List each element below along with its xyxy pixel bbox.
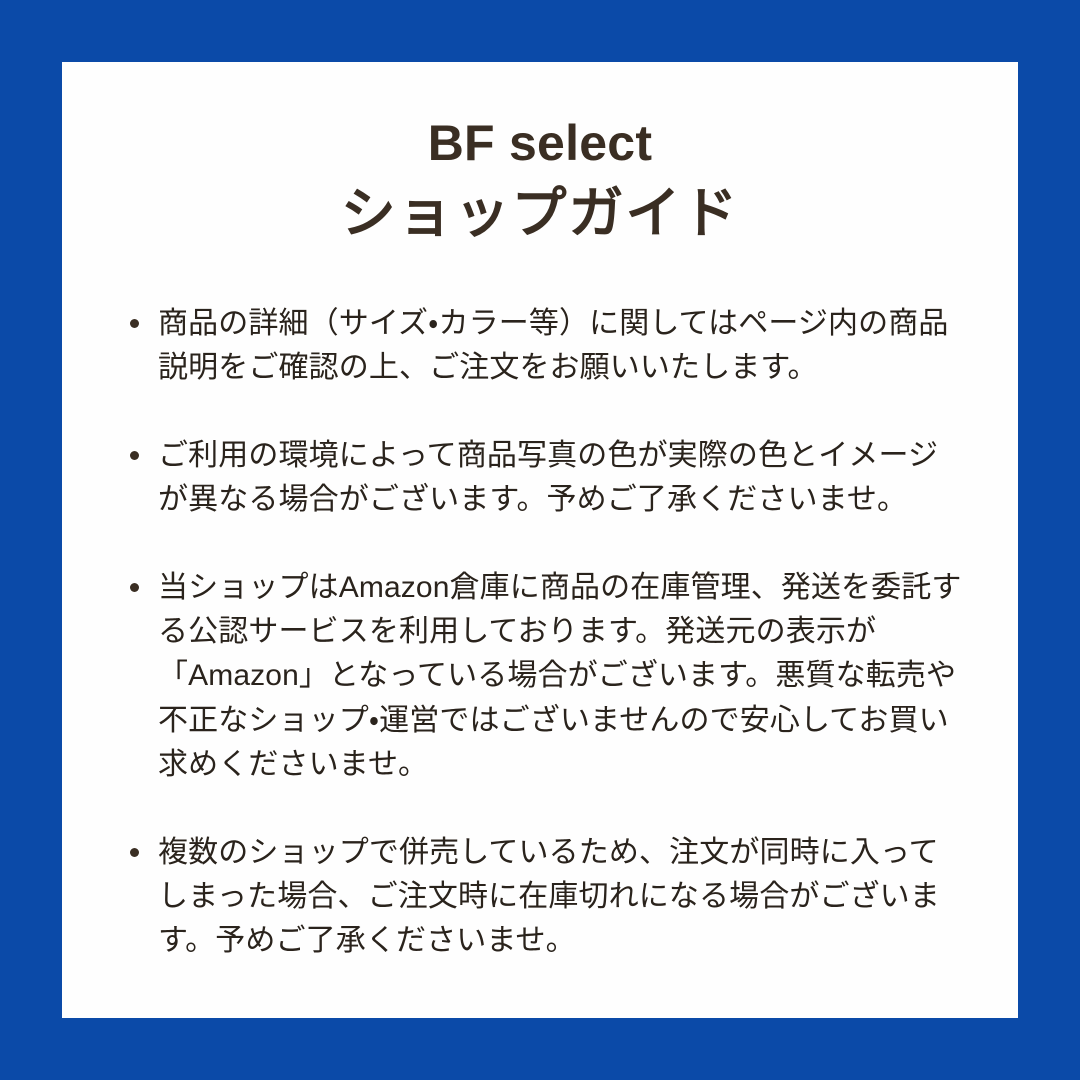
list-item: 商品の詳細（サイズ・カラー等）に関してはページ内の商品説明をご確認の上、ご注文を… bbox=[130, 302, 962, 390]
list-item: 複数のショップで併売しているため、注文が同時に入ってしまった場合、ご注文時に在庫… bbox=[130, 831, 962, 963]
bullet-icon bbox=[130, 848, 139, 857]
bullet-icon bbox=[130, 319, 139, 328]
bullet-icon bbox=[130, 583, 139, 592]
notice-text: 当ショップはAmazon倉庫に商品の在庫管理、発送を委託する公認サービスを利用し… bbox=[158, 566, 962, 786]
title-brand: BF select bbox=[62, 114, 1018, 173]
notice-list: 商品の詳細（サイズ・カラー等）に関してはページ内の商品説明をご確認の上、ご注文を… bbox=[62, 246, 1018, 963]
bullet-icon bbox=[130, 451, 139, 460]
page-frame: BF select ショップガイド 商品の詳細（サイズ・カラー等）に関してはペー… bbox=[0, 0, 1080, 1080]
list-item: ご利用の環境によって商品写真の色が実際の色とイメージが異なる場合がございます。予… bbox=[130, 434, 962, 522]
guide-card: BF select ショップガイド 商品の詳細（サイズ・カラー等）に関してはペー… bbox=[62, 62, 1018, 1018]
page-title: BF select ショップガイド bbox=[62, 62, 1018, 246]
notice-text: ご利用の環境によって商品写真の色が実際の色とイメージが異なる場合がございます。予… bbox=[158, 434, 962, 522]
title-subtitle: ショップガイド bbox=[62, 181, 1018, 246]
notice-text: 複数のショップで併売しているため、注文が同時に入ってしまった場合、ご注文時に在庫… bbox=[158, 831, 962, 963]
notice-text: 商品の詳細（サイズ・カラー等）に関してはページ内の商品説明をご確認の上、ご注文を… bbox=[158, 302, 962, 390]
list-item: 当ショップはAmazon倉庫に商品の在庫管理、発送を委託する公認サービスを利用し… bbox=[130, 566, 962, 786]
